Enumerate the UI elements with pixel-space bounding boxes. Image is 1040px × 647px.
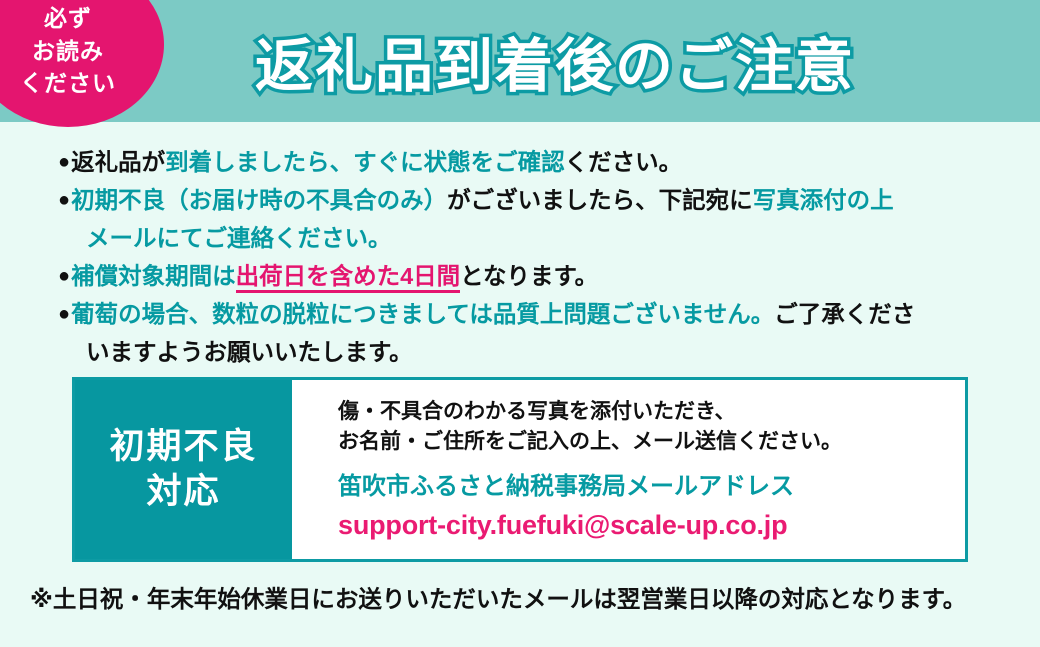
initial-defect-response-box: 初期不良 対応 傷・不具合のわかる写真を添付いただき、 お名前・ご住所をご記入の… — [72, 377, 968, 562]
bullet-3-highlight: 出荷日を含めた4日間 — [236, 263, 461, 293]
bullet-1-segment-2: 到着しましたら、すぐに状態をご確認 — [165, 149, 565, 175]
bullet-dot-icon: ● — [58, 265, 70, 287]
bullet-2-segment-1: 初期不良（お届け時の不具合のみ） — [71, 187, 447, 213]
response-box-label: 初期不良 対応 — [75, 380, 292, 559]
response-label-line-2: 対応 — [146, 470, 220, 514]
bullet-dot-icon: ● — [58, 303, 70, 325]
list-item: ●初期不良（お届け時の不具合のみ）がございましたら、下記宛に写真添付の上 — [58, 181, 1018, 219]
badge-line-3: ください — [0, 67, 164, 100]
bullet-1-segment-3: ください。 — [565, 149, 683, 175]
bullet-2-continuation: メールにてご連絡ください。 — [86, 225, 392, 251]
bullet-1-segment-1: 返礼品が — [71, 149, 165, 175]
list-item: ●返礼品が到着しましたら、すぐに状態をご確認ください。 — [58, 143, 1018, 181]
list-item: ●補償対象期間は出荷日を含めた4日間となります。 — [58, 257, 1018, 295]
must-read-badge-text: 必ず お読み ください — [0, 2, 164, 100]
response-box-body: 傷・不具合のわかる写真を添付いただき、 お名前・ご住所をご記入の上、メール送信く… — [292, 380, 965, 559]
email-heading: 笛吹市ふるさと納税事務局メールアドレス — [338, 470, 965, 504]
bullet-4-segment-1: 葡萄の場合、数粒の脱粒につきましては品質上問題ございません。 — [71, 301, 774, 327]
page-title: 返礼品到着後のご注意 — [255, 18, 955, 104]
bullet-dot-icon: ● — [58, 151, 70, 173]
list-item-continuation: メールにてご連絡ください。 — [58, 219, 1018, 257]
bullet-3-segment-1: 補償対象期間は — [71, 263, 236, 289]
bullet-3-segment-3: となります。 — [460, 263, 598, 289]
bullet-dot-icon: ● — [58, 189, 70, 211]
footer-note: ※土日祝・年末年始休業日にお送りいただいたメールは翌営業日以降の対応となります。 — [30, 582, 966, 616]
list-item-continuation: いますようお願いいたします。 — [58, 333, 1018, 371]
email-address[interactable]: support-city.fuefuki@scale-up.co.jp — [338, 507, 965, 543]
response-instruction-line-2: お名前・ご住所をご記入の上、メール送信ください。 — [338, 427, 965, 457]
list-item: ●葡萄の場合、数粒の脱粒につきましては品質上問題ございません。ご了承くださ — [58, 295, 1018, 333]
response-instruction-line-1: 傷・不具合のわかる写真を添付いただき、 — [338, 397, 965, 427]
notice-card: 返礼品到着後のご注意 必ず お読み ください ●返礼品が到着しましたら、すぐに状… — [0, 0, 1040, 647]
response-label-line-1: 初期不良 — [109, 425, 257, 469]
notice-bullet-list: ●返礼品が到着しましたら、すぐに状態をご確認ください。 ●初期不良（お届け時の不… — [58, 143, 1018, 371]
badge-line-2: お読み — [0, 35, 164, 68]
bullet-4-segment-2: ご了承くださ — [774, 301, 915, 327]
bullet-2-segment-2: がございましたら、下記宛に — [447, 187, 753, 213]
bullet-2-segment-3: 写真添付の上 — [753, 187, 894, 213]
badge-line-1: 必ず — [0, 2, 164, 35]
bullet-4-continuation: いますようお願いいたします。 — [86, 339, 413, 365]
